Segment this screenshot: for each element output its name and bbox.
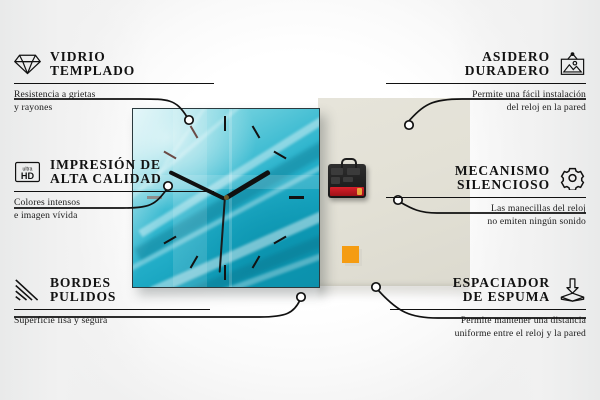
hour-tick bbox=[289, 196, 304, 199]
feature-title-line1: VIDRIO bbox=[50, 50, 135, 64]
feature-divider bbox=[386, 83, 586, 84]
feature-description: Resistencia a grietas y rayones bbox=[14, 89, 228, 115]
mechanism-detail bbox=[331, 168, 343, 175]
feature-title: BORDES PULIDOS bbox=[50, 276, 116, 305]
feature-title-line1: ASIDERO bbox=[465, 50, 550, 64]
feature-desc-line1: Las manecillas del reloj bbox=[372, 203, 586, 216]
feature-title-line1: IMPRESIÓN DE bbox=[50, 158, 162, 172]
feature-description: Permite una fácil instalación del reloj … bbox=[372, 89, 586, 115]
hour-tick bbox=[224, 116, 226, 131]
hour-tick bbox=[252, 125, 261, 138]
mechanism-detail bbox=[343, 177, 353, 182]
feature-desc-line1: Colores intensos bbox=[14, 197, 228, 210]
feature-divider bbox=[14, 191, 214, 192]
diamond-icon bbox=[14, 52, 41, 76]
foam-spacer bbox=[342, 246, 359, 263]
feature-desc-line1: Resistencia a grietas bbox=[14, 89, 228, 102]
feature-title-line2: SILENCIOSO bbox=[455, 178, 550, 192]
feature-mecanismo-silencioso: MECANISMO SILENCIOSO Las manecillas del … bbox=[372, 164, 586, 228]
feature-desc-line1: Permite mantener una distancia bbox=[372, 315, 586, 328]
clock-mechanism bbox=[328, 164, 366, 198]
feature-title: IMPRESIÓN DE ALTA CALIDAD bbox=[50, 158, 162, 187]
feature-title-line2: PULIDOS bbox=[50, 290, 116, 304]
feature-title: MECANISMO SILENCIOSO bbox=[455, 164, 550, 193]
mechanism-detail bbox=[331, 177, 340, 184]
polished-edges-icon bbox=[14, 278, 41, 302]
feature-title-line2: DURADERO bbox=[465, 64, 550, 78]
mechanism-hanger bbox=[341, 158, 357, 168]
feature-title-line2: TEMPLADO bbox=[50, 64, 135, 78]
feature-asidero-duradero: ASIDERO DURADERO Permite una fácil insta… bbox=[372, 50, 586, 114]
feature-desc-line1: Superficie lisa y segura bbox=[14, 315, 228, 328]
wall-hanging-frame-icon bbox=[559, 52, 586, 76]
feature-title: ASIDERO DURADERO bbox=[465, 50, 550, 79]
infographic-canvas: VIDRIO TEMPLADO Resistencia a grietas y … bbox=[0, 0, 600, 400]
feature-desc-line1: Permite una fácil instalación bbox=[372, 89, 586, 102]
feature-desc-line2: e imagen vívida bbox=[14, 210, 228, 223]
feature-divider bbox=[14, 83, 214, 84]
hour-tick bbox=[273, 151, 286, 160]
foam-spacer-arrow-icon bbox=[559, 278, 586, 302]
feature-divider bbox=[386, 197, 586, 198]
feature-divider bbox=[390, 309, 586, 310]
battery bbox=[330, 187, 364, 196]
feature-title-line2: ALTA CALIDAD bbox=[50, 172, 162, 186]
feature-title: ESPACIADOR DE ESPUMA bbox=[453, 276, 550, 305]
feature-description: Superficie lisa y segura bbox=[14, 315, 228, 328]
feature-description: Permite mantener una distancia uniforme … bbox=[372, 315, 586, 341]
ultra-hd-icon: ultra HD bbox=[14, 160, 41, 184]
feature-description: Las manecillas del reloj no emiten ningú… bbox=[372, 203, 586, 229]
battery-terminal bbox=[357, 188, 362, 195]
feature-desc-line2: no emiten ningún sonido bbox=[372, 216, 586, 229]
feature-description: Colores intensos e imagen vívida bbox=[14, 197, 228, 223]
feature-title: VIDRIO TEMPLADO bbox=[50, 50, 135, 79]
feature-divider bbox=[14, 309, 210, 310]
mechanism-detail bbox=[347, 168, 360, 175]
feature-title-line1: ESPACIADOR bbox=[453, 276, 550, 290]
gear-icon bbox=[559, 166, 586, 190]
feature-espaciador-de-espuma: ESPACIADOR DE ESPUMA Permite mantener un… bbox=[372, 276, 586, 340]
feature-desc-line2: del reloj en la pared bbox=[372, 102, 586, 115]
feature-impresion-alta-calidad: ultra HD IMPRESIÓN DE ALTA CALIDAD Color… bbox=[14, 158, 228, 222]
feature-bordes-pulidos: BORDES PULIDOS Superficie lisa y segura bbox=[14, 276, 228, 328]
feature-title-line2: DE ESPUMA bbox=[453, 290, 550, 304]
feature-desc-line2: y rayones bbox=[14, 102, 228, 115]
feature-title-line1: MECANISMO bbox=[455, 164, 550, 178]
feature-vidrio-templado: VIDRIO TEMPLADO Resistencia a grietas y … bbox=[14, 50, 228, 114]
feature-title-line1: BORDES bbox=[50, 276, 116, 290]
feature-desc-line2: uniforme entre el reloj y la pared bbox=[372, 328, 586, 341]
svg-text:HD: HD bbox=[21, 171, 35, 181]
